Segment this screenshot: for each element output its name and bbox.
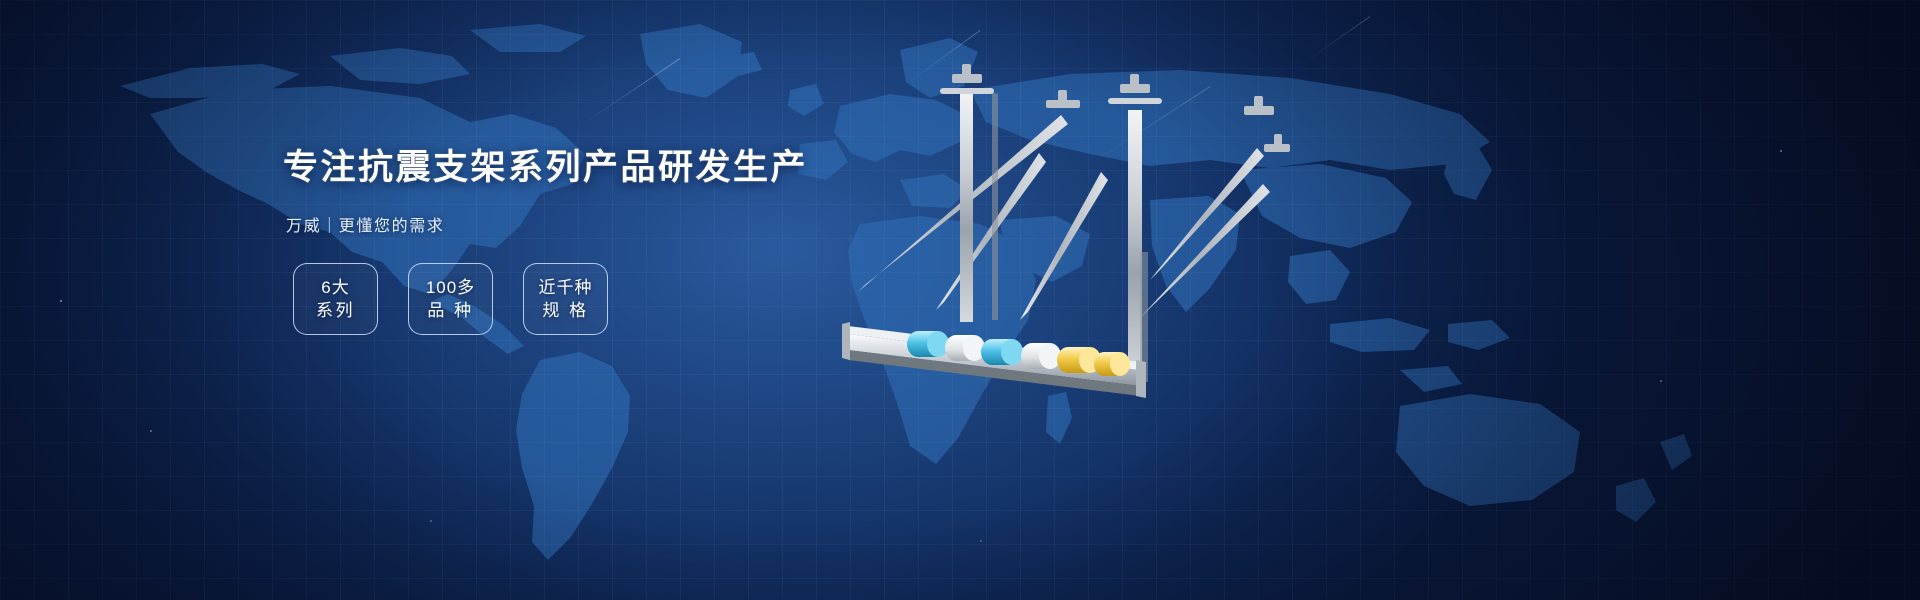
hero-banner: 专注抗震支架系列产品研发生产 万威｜更懂您的需求 6大 系列 100多 品 种 … bbox=[0, 0, 1920, 600]
badge-line-2: 系列 bbox=[316, 301, 355, 320]
banner-headline: 专注抗震支架系列产品研发生产 bbox=[283, 150, 903, 185]
badge-line-1: 近千种 bbox=[539, 278, 593, 297]
star-dot bbox=[1660, 380, 1662, 382]
badge-specifications[interactable]: 近千种 规 格 bbox=[523, 263, 608, 335]
badge-line-2: 规 格 bbox=[542, 301, 588, 320]
star-dot bbox=[430, 520, 432, 522]
banner-copy: 专注抗震支架系列产品研发生产 万威｜更懂您的需求 bbox=[283, 150, 903, 236]
badge-line-1: 6大 bbox=[321, 278, 349, 297]
star-dot bbox=[150, 430, 152, 432]
badge-line-2: 品 种 bbox=[427, 301, 473, 320]
star-dot bbox=[1780, 150, 1782, 152]
banner-subline: 万威｜更懂您的需求 bbox=[286, 212, 903, 236]
product-image bbox=[840, 52, 1340, 412]
badge-varieties[interactable]: 100多 品 种 bbox=[408, 263, 493, 335]
badge-series[interactable]: 6大 系列 bbox=[293, 263, 378, 335]
star-dot bbox=[980, 540, 982, 542]
badge-group: 6大 系列 100多 品 种 近千种 规 格 bbox=[293, 263, 608, 335]
star-dot bbox=[60, 300, 62, 302]
badge-line-1: 100多 bbox=[426, 278, 475, 297]
